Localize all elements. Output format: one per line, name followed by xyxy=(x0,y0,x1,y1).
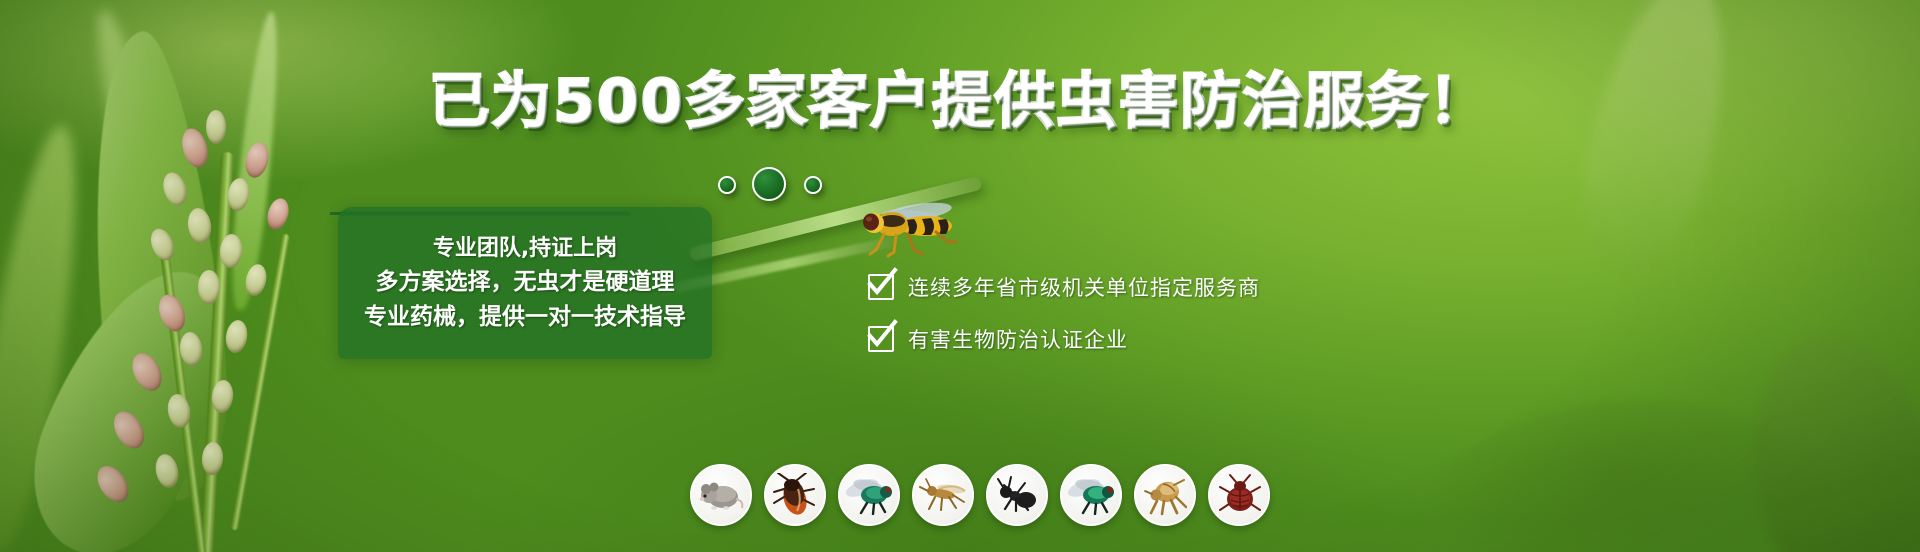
small-dot-icon xyxy=(804,176,822,194)
decorative-dot-group xyxy=(700,160,830,202)
checklist-item-label: 有害生物防治认证企业 xyxy=(908,324,1128,354)
grass-blade-decoration xyxy=(81,4,205,335)
pest-icon-circle[interactable] xyxy=(1208,464,1270,526)
checklist-item-label: 连续多年省市级机关单位指定服务商 xyxy=(908,272,1260,302)
pest-icon-circle[interactable] xyxy=(838,464,900,526)
grass-blade-decoration xyxy=(1562,0,1751,285)
greenbottle-fly-icon xyxy=(1067,475,1115,515)
pest-icon-circle[interactable] xyxy=(986,464,1048,526)
ant-icon xyxy=(995,473,1039,517)
pest-icon-circle[interactable] xyxy=(764,464,826,526)
cockroach-icon xyxy=(772,473,818,517)
bedbug-icon xyxy=(1217,473,1261,517)
pest-icon-circle[interactable] xyxy=(690,464,752,526)
mosquito-icon xyxy=(919,475,967,515)
blowfly-icon xyxy=(845,475,893,515)
grass-blade-decoration xyxy=(0,120,97,552)
credentials-checklist: 连续多年省市级机关单位指定服务商 有害生物防治认证企业 xyxy=(868,272,1260,354)
pest-icon-circle[interactable] xyxy=(1134,464,1196,526)
checkbox-checked-icon xyxy=(868,274,894,300)
feature-panel-text: 专业团队,持证上岗 多方案选择，无虫才是硬道理 专业药械，提供一对一技术指导 xyxy=(338,207,712,359)
large-dot-icon xyxy=(752,167,786,201)
banner-headline: 已为500多家客户提供虫害防治服务！ xyxy=(0,72,1920,132)
pest-type-icon-row xyxy=(690,464,1270,526)
grass-blade-decoration xyxy=(225,10,286,311)
feature-line: 多方案选择，无虫才是硬道理 xyxy=(376,269,675,295)
pest-icon-circle[interactable] xyxy=(912,464,974,526)
grass-blade-decoration xyxy=(5,244,256,552)
banner-headline-text: 已为500多家客户提供虫害防治服务！ xyxy=(429,72,1490,132)
pest-control-hero-banner: 已为500多家客户提供虫害防治服务！ xyxy=(0,0,1920,552)
checklist-item: 有害生物防治认证企业 xyxy=(868,324,1260,354)
hoverfly-icon xyxy=(840,196,980,266)
feature-line: 专业药械，提供一对一技术指导 xyxy=(364,304,686,330)
checkbox-checked-icon xyxy=(868,326,894,352)
feature-line: 专业团队,持证上岗 xyxy=(433,236,617,261)
checklist-item: 连续多年省市级机关单位指定服务商 xyxy=(868,272,1260,302)
grass-blade-decoration xyxy=(1407,386,1840,552)
grass-blade-decoration xyxy=(1728,317,1920,552)
mouse-icon xyxy=(698,475,744,515)
small-dot-icon xyxy=(718,176,736,194)
pest-icon-circle[interactable] xyxy=(1060,464,1122,526)
flea-icon xyxy=(1143,473,1187,517)
hoverfly-illustration xyxy=(840,196,980,266)
